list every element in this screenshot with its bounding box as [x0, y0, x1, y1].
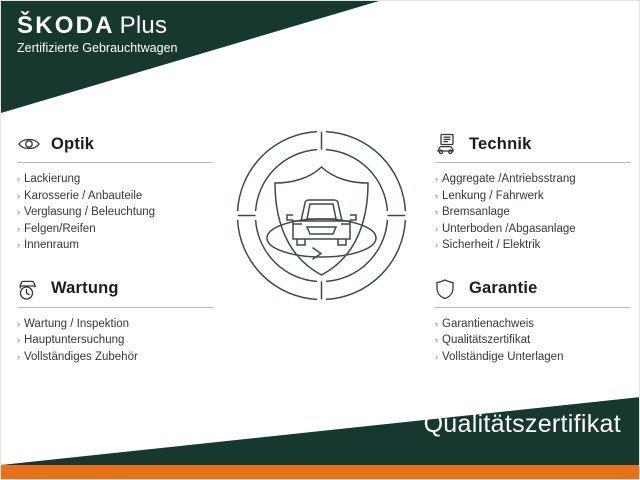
list-item: ›Qualitätszertifikat [435, 332, 631, 349]
chevron-right-icon: › [435, 171, 438, 188]
chevron-right-icon: › [435, 349, 438, 366]
list-item: ›Sicherheit / Elektrik [435, 237, 631, 254]
section-garantie-divider [435, 307, 631, 308]
section-technik-header: Technik [435, 131, 631, 157]
section-technik: Technik ›Aggregate /Antriebsstrang ›Lenk… [435, 131, 631, 254]
list-item: ›Garantienachweis [435, 316, 631, 333]
section-garantie-list: ›Garantienachweis ›Qualitätszertifikat ›… [435, 316, 631, 366]
brand-tagline: Zertifizierte Gebrauchtwagen [17, 40, 178, 56]
list-item: ›Vollständige Unterlagen [435, 349, 631, 366]
section-wartung-list: ›Wartung / Inspektion ›Hauptuntersuchung… [17, 316, 213, 366]
section-garantie: Garantie ›Garantienachweis ›Qualitätszer… [435, 276, 631, 366]
brand-skoda-text: ŠKODA [17, 12, 115, 39]
chevron-right-icon: › [17, 171, 20, 188]
list-item: ›Felgen/Reifen [17, 221, 213, 238]
section-garantie-header: Garantie [435, 276, 631, 302]
list-item-label: Verglasung / Beleuchtung [24, 204, 155, 221]
list-item: ›Hauptuntersuchung [17, 332, 213, 349]
left-column: Optik ›Lackierung ›Karosserie / Anbautei… [17, 131, 213, 387]
orange-accent-strip [1, 465, 640, 479]
car-clock-icon [17, 277, 43, 301]
section-optik-list: ›Lackierung ›Karosserie / Anbauteile ›Ve… [17, 171, 213, 254]
brand-plus-text: Plus [120, 12, 168, 39]
list-item: ›Aggregate /Antriebsstrang [435, 171, 631, 188]
list-item-label: Bremsanlage [442, 204, 510, 221]
list-item-label: Lenkung / Fahrwerk [442, 188, 544, 205]
list-item-label: Sicherheit / Elektrik [442, 237, 540, 254]
section-garantie-title: Garantie [469, 279, 538, 298]
list-item: ›Unterboden /Abgasanlage [435, 221, 631, 238]
list-item-label: Karosserie / Anbauteile [24, 188, 142, 205]
chevron-right-icon: › [435, 237, 438, 254]
chevron-right-icon: › [435, 316, 438, 333]
chevron-right-icon: › [17, 204, 20, 221]
chevron-right-icon: › [17, 349, 20, 366]
list-item: ›Innenraum [17, 237, 213, 254]
right-column: Technik ›Aggregate /Antriebsstrang ›Lenk… [435, 131, 631, 387]
eye-icon [17, 132, 43, 156]
section-optik-title: Optik [51, 135, 94, 154]
chevron-right-icon: › [435, 204, 438, 221]
section-optik-header: Optik [17, 131, 213, 157]
chevron-right-icon: › [17, 237, 20, 254]
section-wartung: Wartung ›Wartung / Inspektion ›Hauptunte… [17, 276, 213, 366]
list-item-label: Felgen/Reifen [24, 221, 96, 238]
list-item: ›Lackierung [17, 171, 213, 188]
brand-name-line: ŠKODAPlus [17, 13, 178, 39]
list-item: ›Vollständiges Zubehör [17, 349, 213, 366]
chevron-right-icon: › [435, 332, 438, 349]
list-item-label: Vollständige Unterlagen [442, 349, 563, 366]
list-item-label: Qualitätszertifikat [442, 332, 530, 349]
list-item: ›Wartung / Inspektion [17, 316, 213, 333]
list-item-label: Unterboden /Abgasanlage [442, 221, 576, 238]
list-item: ›Karosserie / Anbauteile [17, 188, 213, 205]
page-title: Qualitätszertifikat [424, 409, 621, 439]
section-optik: Optik ›Lackierung ›Karosserie / Anbautei… [17, 131, 213, 254]
list-item-label: Innenraum [24, 237, 79, 254]
list-item: ›Bremsanlage [435, 204, 631, 221]
chevron-right-icon: › [17, 221, 20, 238]
section-optik-divider [17, 162, 213, 163]
list-item-label: Garantienachweis [442, 316, 534, 333]
chevron-right-icon: › [17, 332, 20, 349]
chevron-right-icon: › [17, 188, 20, 205]
chevron-right-icon: › [435, 221, 438, 238]
section-technik-divider [435, 162, 631, 163]
section-wartung-header: Wartung [17, 276, 213, 302]
list-item-label: Vollständiges Zubehör [24, 349, 138, 366]
quality-certificate-page: ŠKODAPlus Zertifizierte Gebrauchtwagen [0, 0, 640, 480]
section-wartung-title: Wartung [51, 279, 119, 298]
section-technik-list: ›Aggregate /Antriebsstrang ›Lenkung / Fa… [435, 171, 631, 254]
chevron-right-icon: › [17, 316, 20, 333]
shield-icon [435, 277, 461, 301]
list-item-label: Hauptuntersuchung [24, 332, 124, 349]
list-item: ›Verglasung / Beleuchtung [17, 204, 213, 221]
brand-logo: ŠKODAPlus Zertifizierte Gebrauchtwagen [17, 13, 178, 56]
list-item-label: Wartung / Inspektion [24, 316, 129, 333]
certified-car-shield-icon [229, 123, 414, 308]
car-checklist-icon [435, 132, 461, 156]
section-wartung-divider [17, 307, 213, 308]
list-item-label: Lackierung [24, 171, 80, 188]
list-item-label: Aggregate /Antriebsstrang [442, 171, 576, 188]
section-technik-title: Technik [469, 135, 532, 154]
chevron-right-icon: › [435, 188, 438, 205]
list-item: ›Lenkung / Fahrwerk [435, 188, 631, 205]
